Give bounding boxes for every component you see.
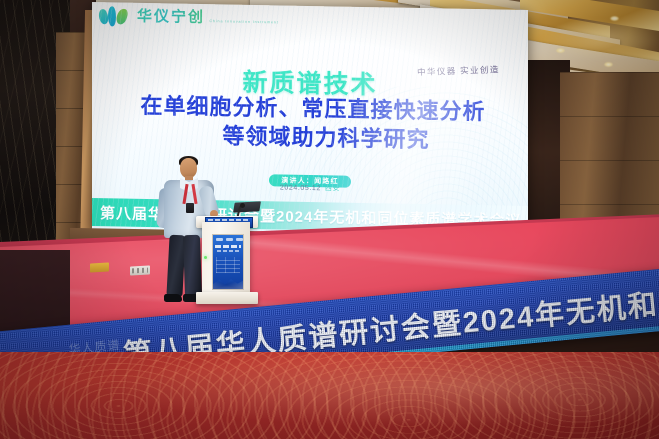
stage-power-socket [130,265,150,275]
speaker-badge-card [186,203,194,213]
speaker-head [180,158,197,178]
talk-date: 2024.05.12 [280,184,321,192]
stage-prop-box [90,263,109,273]
brand-name-en: China Innovation Instrument [209,19,278,24]
ceiling-downlight [556,48,565,53]
ceiling-downlight [610,16,619,21]
hall-floor-carpet [0,352,659,439]
leaf-trio-logo-icon [98,4,132,29]
brand-logo: 华仪宁创 China Innovation Instrument [98,4,279,31]
speaker-left-shoe [164,294,182,302]
slide-subtitle-line-2: 等领域助力科学研究 [140,120,512,156]
talk-city: 西安 [325,185,340,192]
podium-front-display [212,234,244,290]
slide-subtitle-line-1: 在单细胞分析、常压直接快速分析 [140,93,485,124]
microphone-head-icon [240,203,245,208]
podium-power-led-icon [204,256,207,259]
podium-base [196,292,258,304]
conference-photo-scene: 华仪宁创 China Innovation Instrument 中华仪器 实业… [0,0,659,439]
podium [196,212,258,304]
ceiling-downlight [604,62,613,67]
slide-title-sub: 在单细胞分析、常压直接快速分析 等领域助力科学研究 [114,90,512,155]
brand-name-cn: 华仪宁创 [137,8,205,26]
